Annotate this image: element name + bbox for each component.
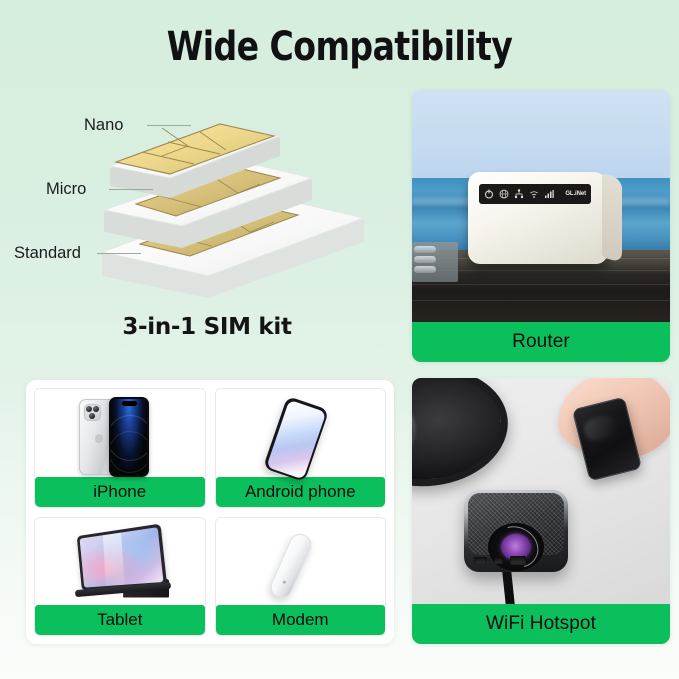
usb-modem-body — [267, 530, 315, 601]
devices-panel: iPhone Android phone Tablet Modem — [26, 380, 394, 644]
tablet-art — [35, 518, 205, 606]
iphone-camera-module — [84, 404, 101, 421]
globe-icon — [499, 189, 509, 199]
device-cell-modem[interactable]: Modem — [215, 517, 387, 637]
signal-bars-icon — [544, 189, 554, 199]
sky-background — [412, 90, 670, 178]
sim-card-stack: Nano Micro Standard — [12, 92, 402, 310]
sim-stack-graphic — [12, 92, 402, 310]
apple-logo-icon — [95, 434, 103, 443]
sim-kit-illustration: Nano Micro Standard 3-in-1 SIM kit — [12, 92, 402, 364]
iphone-notch — [122, 401, 137, 406]
device-label-iphone: iPhone — [35, 477, 205, 507]
device-label-android-phone: Android phone — [216, 477, 386, 507]
iphone-art — [35, 389, 205, 477]
modem-art — [216, 518, 386, 606]
router-photo: GL.iNet — [412, 90, 670, 322]
hotspot-ring-highlight — [486, 519, 545, 576]
router-status-panel: GL.iNet — [479, 184, 591, 204]
device-label-modem: Modem — [216, 605, 386, 635]
card-router[interactable]: GL.iNet Router — [412, 90, 670, 362]
card-label-wifi-hotspot: WiFi Hotspot — [412, 604, 670, 644]
leader-line-micro — [109, 189, 153, 190]
leader-line-nano — [147, 125, 191, 126]
router-device: GL.iNet — [468, 172, 608, 264]
device-label-tablet: Tablet — [35, 605, 205, 635]
sim-label-standard: Standard — [14, 244, 81, 263]
sim-label-nano: Nano — [84, 116, 123, 135]
iphone-front-body — [109, 397, 149, 477]
hotspot-photo — [412, 378, 670, 604]
hotspot-mesh-top — [468, 493, 564, 555]
router-brand-label: GL.iNet — [565, 191, 586, 197]
power-icon — [484, 189, 494, 199]
sim-label-micro: Micro — [46, 180, 86, 199]
leader-line-standard — [97, 253, 141, 254]
router-side-panel — [602, 173, 622, 263]
card-wifi-hotspot[interactable]: WiFi Hotspot — [412, 378, 670, 644]
hotspot-device — [464, 490, 568, 572]
ethernet-icon — [514, 189, 524, 199]
android-phone-screen — [266, 399, 326, 479]
device-cell-iphone[interactable]: iPhone — [34, 388, 206, 508]
page-title: Wide Compatibility — [27, 24, 652, 70]
hotspot-ports — [474, 555, 558, 566]
tablet-assembly — [69, 530, 177, 602]
device-cell-android-phone[interactable]: Android phone — [215, 388, 387, 508]
wifi-icon — [529, 189, 539, 199]
iphone-screen — [111, 399, 147, 475]
deck-rail — [412, 242, 458, 282]
tablet-screen — [77, 523, 167, 590]
android-phone-body — [262, 396, 328, 482]
device-cell-tablet[interactable]: Tablet — [34, 517, 206, 637]
android-phone-art — [216, 389, 386, 477]
sim-kit-caption: 3-in-1 SIM kit — [12, 314, 402, 340]
card-label-router: Router — [412, 322, 670, 362]
